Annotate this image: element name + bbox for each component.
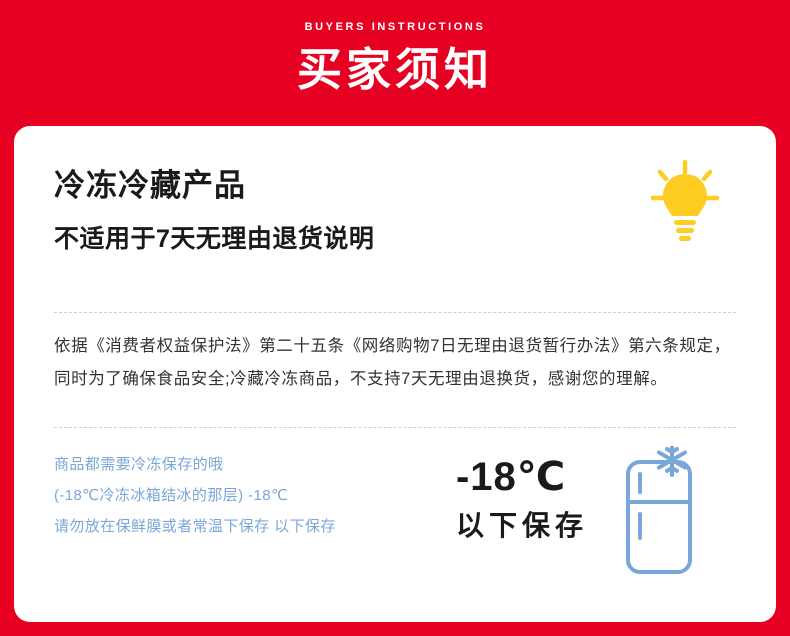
- temperature-caption: 以下保存: [456, 504, 588, 544]
- storage-section: 商品都需要冷冻保存的哦 (-18℃冷冻冰箱结冰的那层) -18℃ 请勿放在保鲜膜…: [54, 450, 736, 590]
- policy-text: 依据《消费者权益保护法》第二十五条《网络购物7日无理由退货暂行办法》第六条规定，…: [54, 330, 736, 396]
- eyebrow-text: BUYERS INSTRUCTIONS: [0, 0, 790, 33]
- promo-page: BUYERS INSTRUCTIONS 买家须知 冷冻冷藏产品 不适用于7天无理…: [0, 0, 790, 636]
- divider-top: [54, 312, 736, 313]
- refrigerator-icon: [610, 446, 702, 578]
- card-subtitle: 不适用于7天无理由退货说明: [54, 219, 736, 255]
- lightbulb-icon: [650, 160, 720, 246]
- temperature-value: -18℃: [456, 456, 588, 498]
- page-title: 买家须知: [0, 45, 790, 95]
- instructions-card: 冷冻冷藏产品 不适用于7天无理由退货说明 依据《消费者权益保护法》第二十五条《网…: [14, 126, 776, 622]
- temperature-block: -18℃ 以下保存: [456, 456, 588, 544]
- card-title: 冷冻冷藏产品: [54, 160, 736, 205]
- divider-bottom: [54, 427, 736, 428]
